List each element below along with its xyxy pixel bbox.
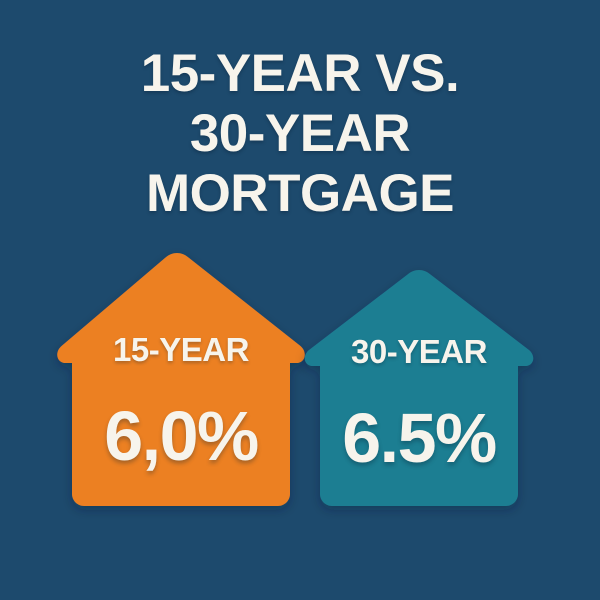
house-b-term-label: 30-YEAR [320,334,518,370]
house-a-term-label: 15-YEAR [72,332,290,368]
house-icon-30-year: 30-YEAR 6.5% [0,0,600,600]
house-icon-15-year: 15-YEAR 6,0% [0,0,600,600]
house-comparison-group: 15-YEAR 6,0% 30-YEAR 6.5% [0,0,600,600]
house-b-rate-value: 6.5% [320,400,518,476]
infographic-canvas: 15-YEAR VS. 30-YEAR MORTGAGE 15-YEAR 6,0… [0,0,600,600]
house-a-rate-value: 6,0% [72,398,290,474]
